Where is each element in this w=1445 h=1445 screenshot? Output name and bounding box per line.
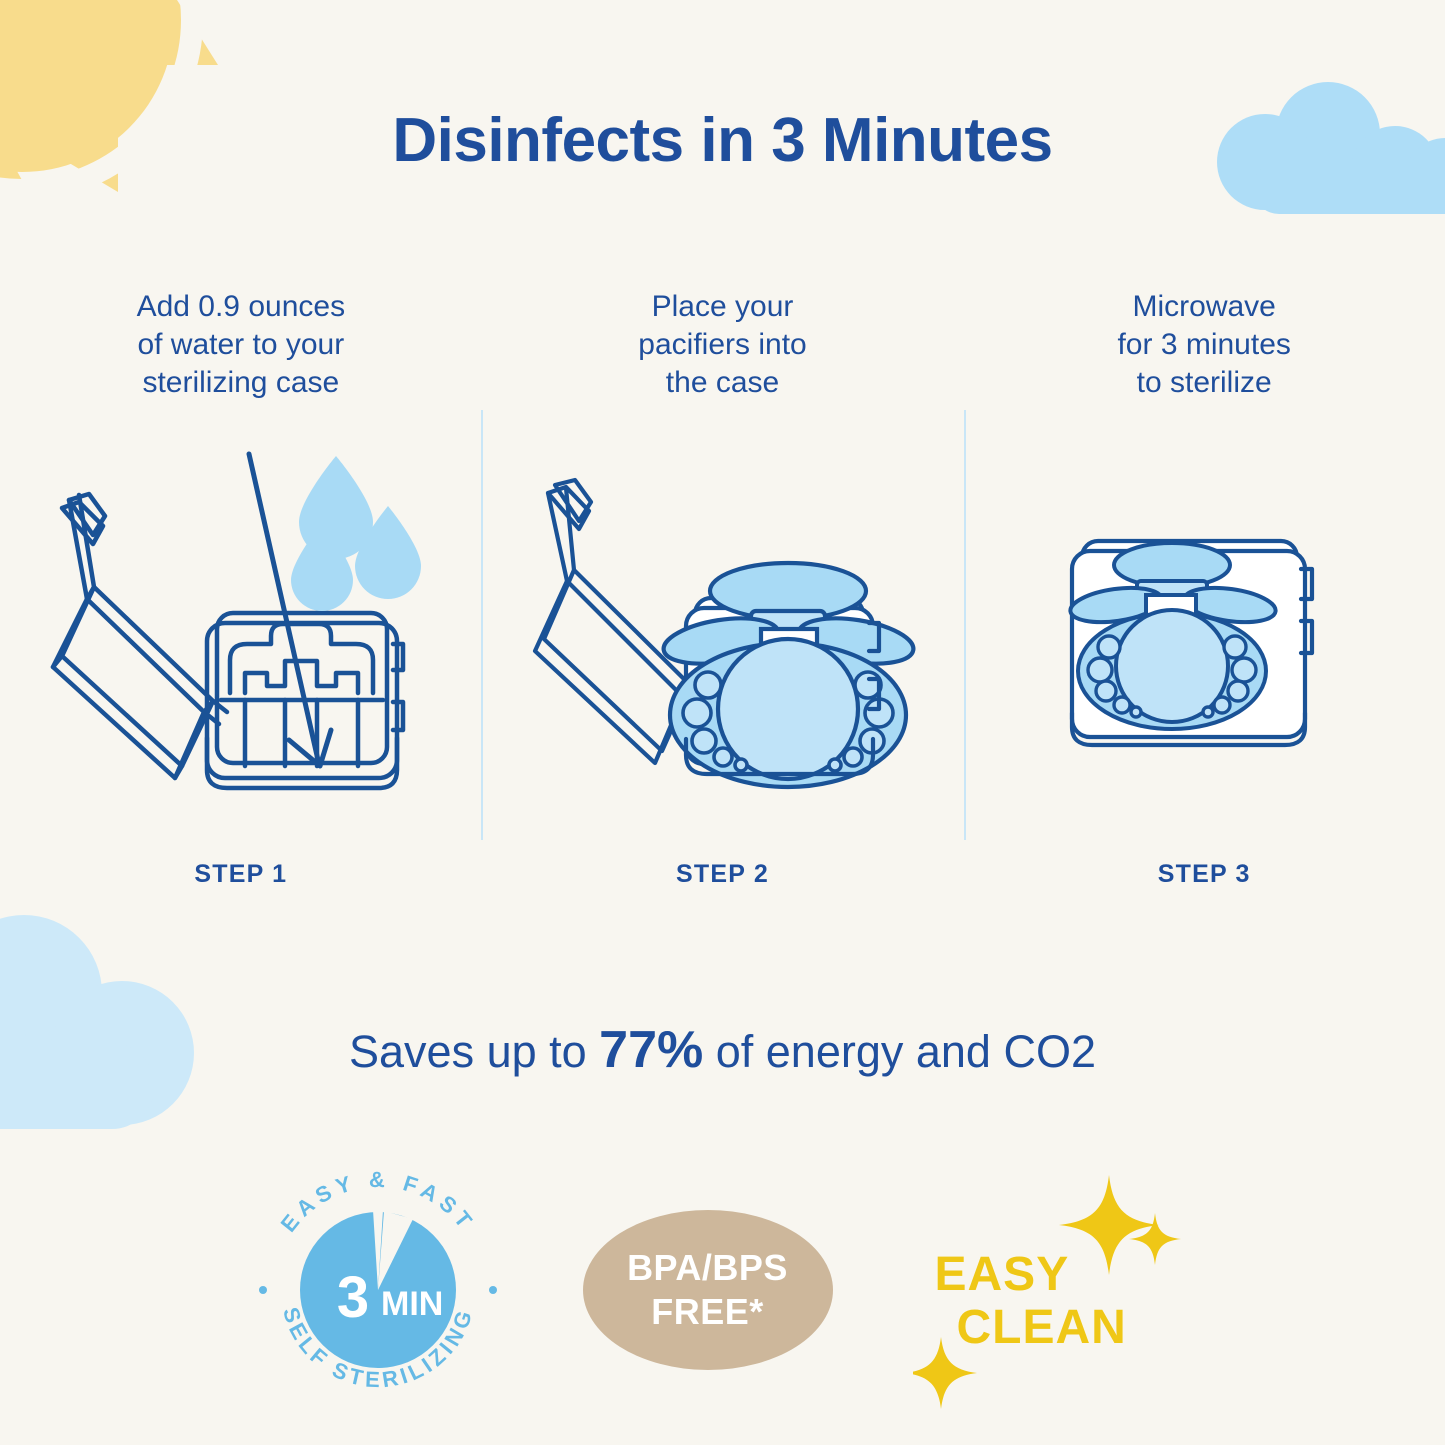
step-1-caption: Add 0.9 ounces of water to your steriliz… (137, 288, 346, 408)
page-title: Disinfects in 3 Minutes (0, 105, 1445, 176)
savings-percent: 77% (599, 1021, 703, 1079)
easy-clean-line-1: EASY (935, 1247, 1070, 1302)
badge-3min-self-sterilizing: EASY & FAST SELF STERILIZING 3 MIN (253, 1165, 503, 1415)
step-1-label: STEP 1 (194, 860, 287, 889)
badge-bpa-bps-free: BPA/BPS FREE* (583, 1210, 833, 1370)
badge-minutes-number: 3 (336, 1265, 368, 1330)
bpa-badge-text: BPA/BPS FREE* (627, 1246, 788, 1334)
badge-minutes-unit: MIN (381, 1285, 443, 1323)
step-3-caption: Microwave for 3 minutes to sterilize (1117, 288, 1290, 408)
badges-row: EASY & FAST SELF STERILIZING 3 MIN BPA/B… (0, 1165, 1445, 1415)
step-2: Place your pacifiers into the case (482, 288, 964, 908)
savings-prefix: Saves up to (349, 1026, 599, 1077)
step-3: Microwave for 3 minutes to sterilize (963, 288, 1445, 908)
step-1: Add 0.9 ounces of water to your steriliz… (0, 288, 482, 908)
step-3-label: STEP 3 (1158, 860, 1251, 889)
step-3-illustration (963, 438, 1445, 838)
savings-suffix: of energy and CO2 (703, 1026, 1096, 1077)
step-2-illustration (482, 438, 964, 838)
step-2-label: STEP 2 (676, 860, 769, 889)
badge-easy-clean: EASY CLEAN (913, 1165, 1193, 1415)
step-2-caption: Place your pacifiers into the case (638, 288, 806, 408)
easy-clean-line-2: CLEAN (957, 1300, 1127, 1355)
water-droplets (291, 456, 421, 611)
savings-statement: Saves up to 77% of energy and CO2 (0, 1020, 1445, 1080)
steps-row: Add 0.9 ounces of water to your steriliz… (0, 288, 1445, 908)
pacifier-icon (660, 563, 916, 787)
step-1-illustration (0, 438, 482, 838)
